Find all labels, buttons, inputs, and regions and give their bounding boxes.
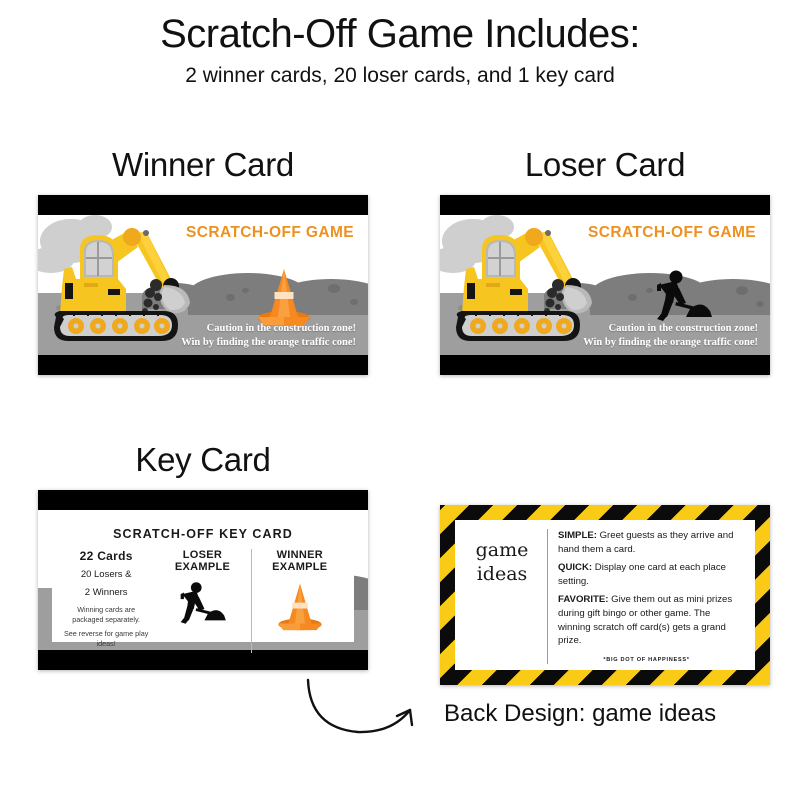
winner-example-head: WINNER EXAMPLE	[255, 549, 345, 573]
worker-digging-icon	[171, 581, 233, 627]
key-card-content: SCRATCH-OFF KEY CARD 22 Cards 20 Losers …	[52, 518, 354, 642]
back-design-content: game ideas SIMPLE: Greet guests as they …	[455, 520, 755, 670]
page-subtitle: 2 winner cards, 20 loser cards, and 1 ke…	[0, 63, 800, 88]
card-caption: Caution in the construction zone! Win by…	[583, 322, 758, 350]
loser-card-scene: SCRATCH-OFF GAME Caution in the construc…	[440, 215, 770, 355]
game-ideas-label: game ideas	[465, 529, 548, 664]
game-ideas-body: SIMPLE: Greet guests as they arrive and …	[548, 529, 745, 664]
idea-favorite: FAVORITE: Give them out as mini prizes d…	[558, 593, 745, 647]
key-card-count-line1: 20 Losers &	[61, 569, 151, 582]
key-card-col-counts: 22 Cards 20 Losers & 2 Winners Winning c…	[58, 549, 154, 653]
key-card-col-winner: WINNER EXAMPLE	[251, 549, 348, 653]
back-design-caption: Back Design: game ideas	[444, 700, 716, 728]
winner-card-block: Winner Card	[38, 148, 368, 375]
card-bottom-bar	[38, 355, 368, 375]
game-ideas-label-line1: game	[465, 539, 539, 563]
winner-card-scene: SCRATCH-OFF GAME Caution in the construc…	[38, 215, 368, 355]
key-card-fine1: Winning cards are packaged separately.	[61, 605, 151, 625]
pointer-arrow	[300, 676, 440, 742]
key-card-col-loser: LOSER EXAMPLE	[154, 549, 250, 653]
idea-favorite-label: FAVORITE:	[558, 594, 608, 605]
key-card-columns: 22 Cards 20 Losers & 2 Winners Winning c…	[52, 549, 354, 653]
curved-arrow-icon	[300, 676, 440, 742]
traffic-cone-icon	[275, 580, 325, 632]
worker-digging-icon	[646, 269, 720, 325]
key-card-label: Key Card	[38, 443, 368, 476]
card-bottom-bar	[440, 355, 770, 375]
loser-card-block: Loser Card	[440, 148, 770, 375]
key-card-fine2: See reverse for game play ideas!	[61, 629, 151, 649]
card-bottom-bar	[38, 650, 368, 670]
key-card-count-line2: 2 Winners	[61, 587, 151, 600]
loser-card-label: Loser Card	[440, 148, 770, 181]
card-caption-line1: Caution in the construction zone!	[583, 322, 758, 336]
header: Scratch-Off Game Includes: 2 winner card…	[0, 0, 800, 88]
pebble	[242, 288, 249, 293]
idea-quick-label: QUICK:	[558, 562, 592, 573]
card-title: SCRATCH-OFF GAME	[186, 224, 354, 242]
card-caption-line2: Win by finding the orange traffic cone!	[583, 336, 758, 350]
traffic-cone-icon	[254, 265, 314, 327]
card-caption-line1: Caution in the construction zone!	[181, 322, 356, 336]
pebble	[628, 294, 637, 301]
idea-simple: SIMPLE: Greet guests as they arrive and …	[558, 529, 745, 556]
key-card-block: Key Card SCRATCH-OFF KEY CARD 22 Cards 2…	[38, 443, 368, 670]
card-title: SCRATCH-OFF GAME	[588, 224, 756, 242]
key-card: SCRATCH-OFF KEY CARD 22 Cards 20 Losers …	[38, 490, 368, 670]
key-card-count-head: 22 Cards	[61, 549, 151, 563]
page-title: Scratch-Off Game Includes:	[0, 12, 800, 56]
idea-simple-label: SIMPLE:	[558, 530, 597, 541]
key-card-title: SCRATCH-OFF KEY CARD	[113, 527, 293, 541]
brand-footer: *BIG DOT OF HAPPINESS*	[548, 657, 745, 665]
pebble	[328, 284, 340, 293]
winner-card: SCRATCH-OFF GAME Caution in the construc…	[38, 195, 368, 375]
pebble	[350, 299, 358, 305]
pebble	[756, 301, 764, 307]
back-design-card: game ideas SIMPLE: Greet guests as they …	[440, 505, 770, 685]
pebble	[226, 294, 235, 301]
card-caption: Caution in the construction zone! Win by…	[181, 322, 356, 350]
back-design-block: game ideas SIMPLE: Greet guests as they …	[440, 505, 770, 685]
card-top-bar	[440, 195, 770, 215]
poster-root: Scratch-Off Game Includes: 2 winner card…	[0, 0, 800, 800]
pebble	[736, 286, 748, 295]
winner-card-label: Winner Card	[38, 148, 368, 181]
idea-quick: QUICK: Display one card at each place se…	[558, 561, 745, 588]
card-top-bar	[38, 195, 368, 215]
loser-example-head: LOSER EXAMPLE	[157, 549, 247, 573]
loser-card: SCRATCH-OFF GAME Caution in the construc…	[440, 195, 770, 375]
card-top-bar	[38, 490, 368, 510]
card-caption-line2: Win by finding the orange traffic cone!	[181, 336, 356, 350]
game-ideas-label-line2: ideas	[465, 563, 539, 587]
